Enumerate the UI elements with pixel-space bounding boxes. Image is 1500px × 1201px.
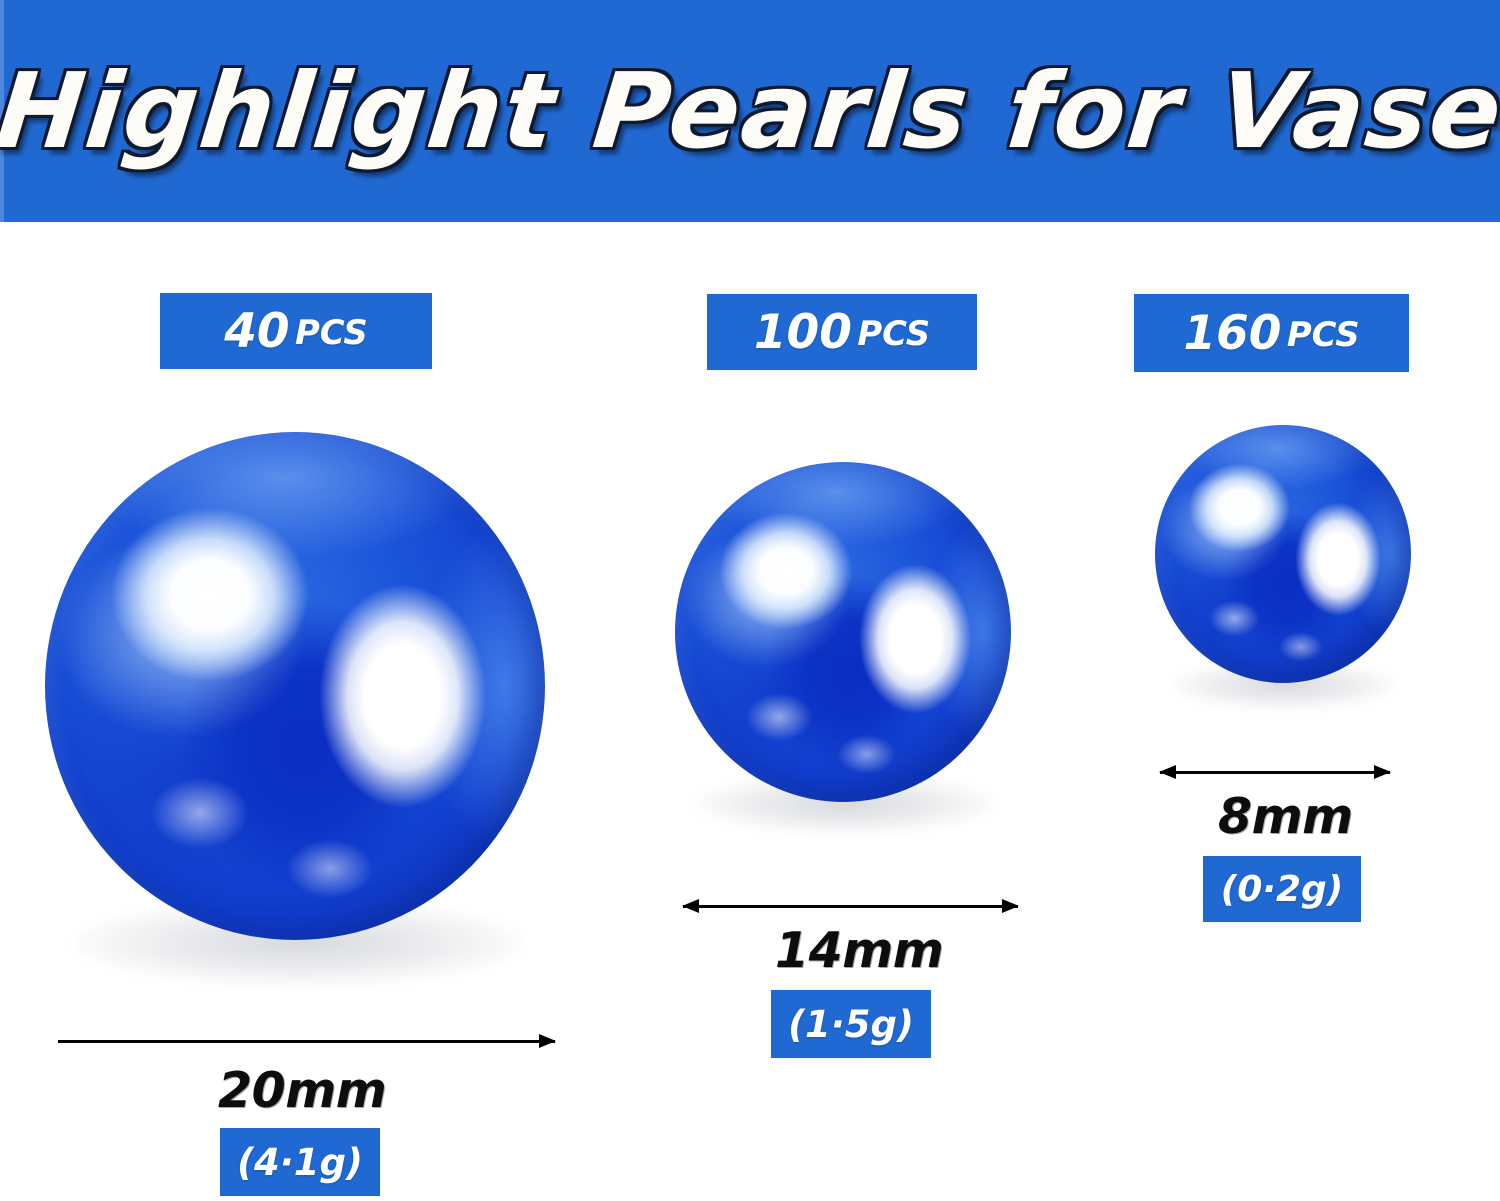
count-badge-14mm: 100 PCS [707,294,977,370]
count-unit-14mm: PCS [857,314,930,353]
arrow-right-icon [539,1034,556,1048]
header-banner: Highlight Pearls for Vase [0,0,1500,222]
dimension-arrow-20mm [58,1031,555,1051]
dimension-label-14mm: 14mm [775,922,943,979]
weight-badge-8mm: (0·2g) [1203,856,1361,922]
count-value-14mm: 100 [754,305,852,360]
dimension-line-20mm [58,1040,555,1043]
count-value-20mm: 40 [224,304,289,359]
count-unit-20mm: PCS [295,313,368,352]
pearl-image-20mm [45,432,545,940]
dimension-label-8mm: 8mm [1218,788,1353,845]
page-title: Highlight Pearls for Vase [0,0,1500,222]
pearl-image-14mm [675,462,1011,802]
count-value-8mm: 160 [1183,306,1281,361]
arrow-left-icon [1159,765,1176,779]
arrow-right-icon [1374,765,1391,779]
sphere-icon [675,462,1011,802]
weight-badge-20mm: (4·1g) [220,1128,380,1196]
pearl-image-8mm [1155,425,1411,683]
dimension-line-14mm [683,905,1018,908]
arrow-right-icon [1002,899,1019,913]
count-badge-8mm: 160 PCS [1134,294,1409,372]
product-infographic: Highlight Pearls for Vase 40 PCS 20mm (4… [0,0,1500,1201]
count-unit-8mm: PCS [1287,315,1360,354]
dimension-line-8mm [1160,771,1390,774]
dimension-label-20mm: 20mm [218,1062,386,1119]
dimension-arrow-14mm [683,896,1018,916]
sphere-icon [45,432,545,940]
arrow-left-icon [682,899,699,913]
dimension-arrow-8mm [1160,762,1390,782]
count-badge-20mm: 40 PCS [160,293,432,369]
weight-badge-14mm: (1·5g) [771,990,931,1058]
sphere-icon [1155,425,1411,683]
